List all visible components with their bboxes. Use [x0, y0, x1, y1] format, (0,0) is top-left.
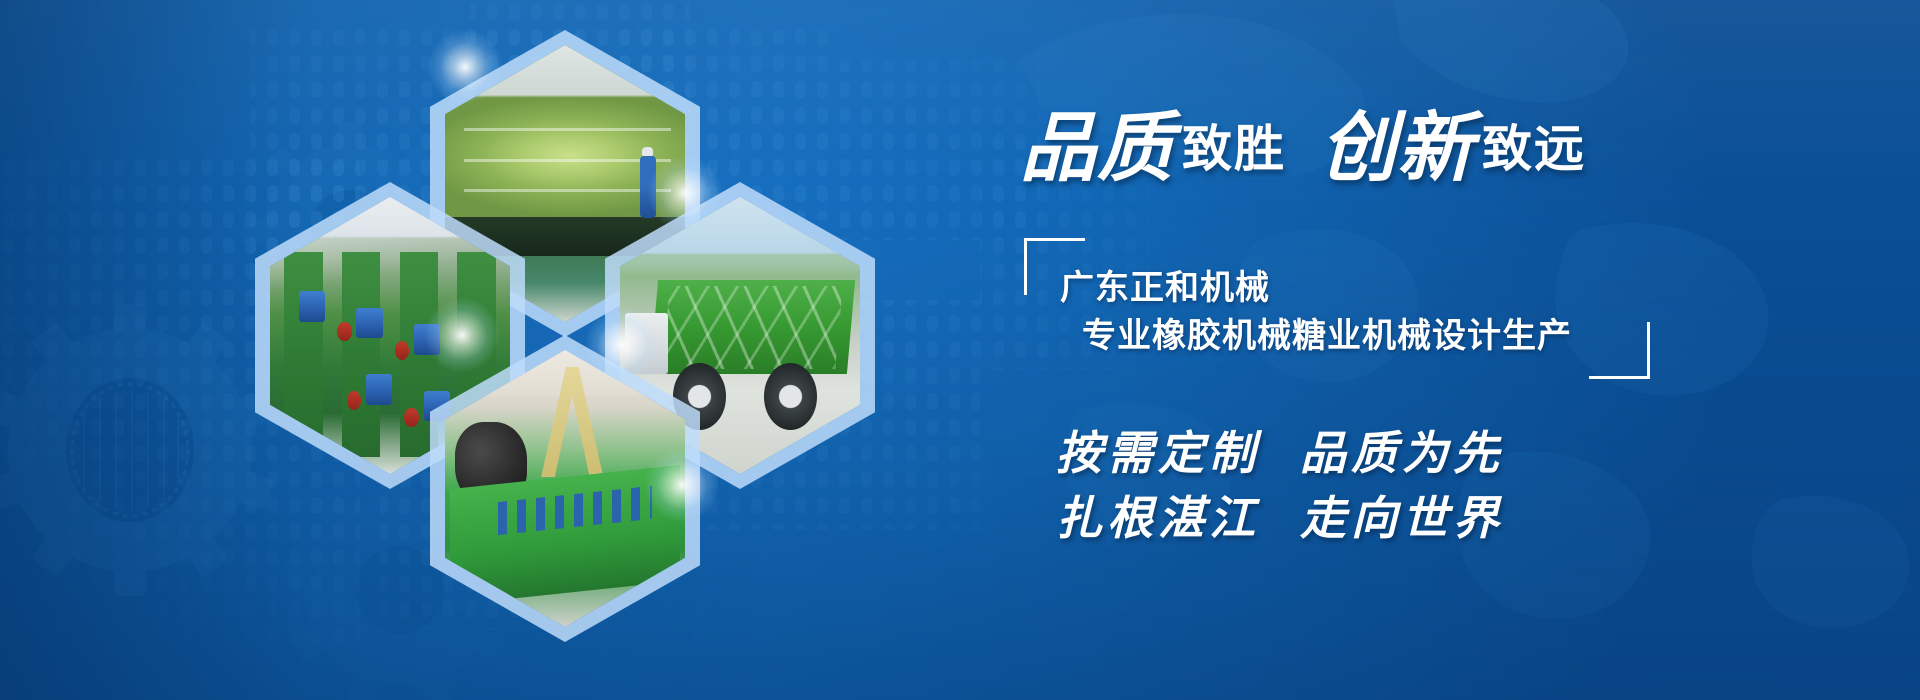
banner-copy: 品质致胜创新致远 广东正和机械 专业橡胶机械糖业机械设计生产 按需定制品质为先 … — [1020, 110, 1720, 551]
slogan-1-right: 品质为先 — [1300, 426, 1504, 480]
headline: 品质致胜创新致远 — [1020, 110, 1720, 186]
hexagon-photo-cluster — [230, 45, 870, 565]
slogan-block: 按需定制品质为先 扎根湛江走向世界 — [1020, 421, 1720, 552]
slogan-2-left: 扎根湛江 — [1056, 491, 1260, 545]
company-name: 广东正和机械 — [1060, 264, 1624, 312]
slogan-row-2: 扎根湛江走向世界 — [1056, 486, 1720, 551]
headline-part2-light: 致远 — [1482, 120, 1586, 178]
promotional-banner: 品质致胜创新致远 广东正和机械 专业橡胶机械糖业机械设计生产 按需定制品质为先 … — [0, 0, 1920, 700]
company-business: 专业橡胶机械糖业机械设计生产 — [1060, 312, 1624, 360]
headline-part1-strong: 品质 — [1020, 103, 1174, 192]
headline-part1-light: 致胜 — [1182, 120, 1286, 178]
slogan-2-right: 走向世界 — [1300, 491, 1504, 545]
slogan-row-1: 按需定制品质为先 — [1056, 421, 1720, 486]
subtitle-block: 广东正和机械 专业橡胶机械糖业机械设计生产 — [1020, 238, 1650, 379]
headline-part2-strong: 创新 — [1320, 103, 1474, 192]
hex-photo-conveyor-line[interactable] — [445, 350, 685, 627]
slogan-1-left: 按需定制 — [1056, 426, 1260, 480]
